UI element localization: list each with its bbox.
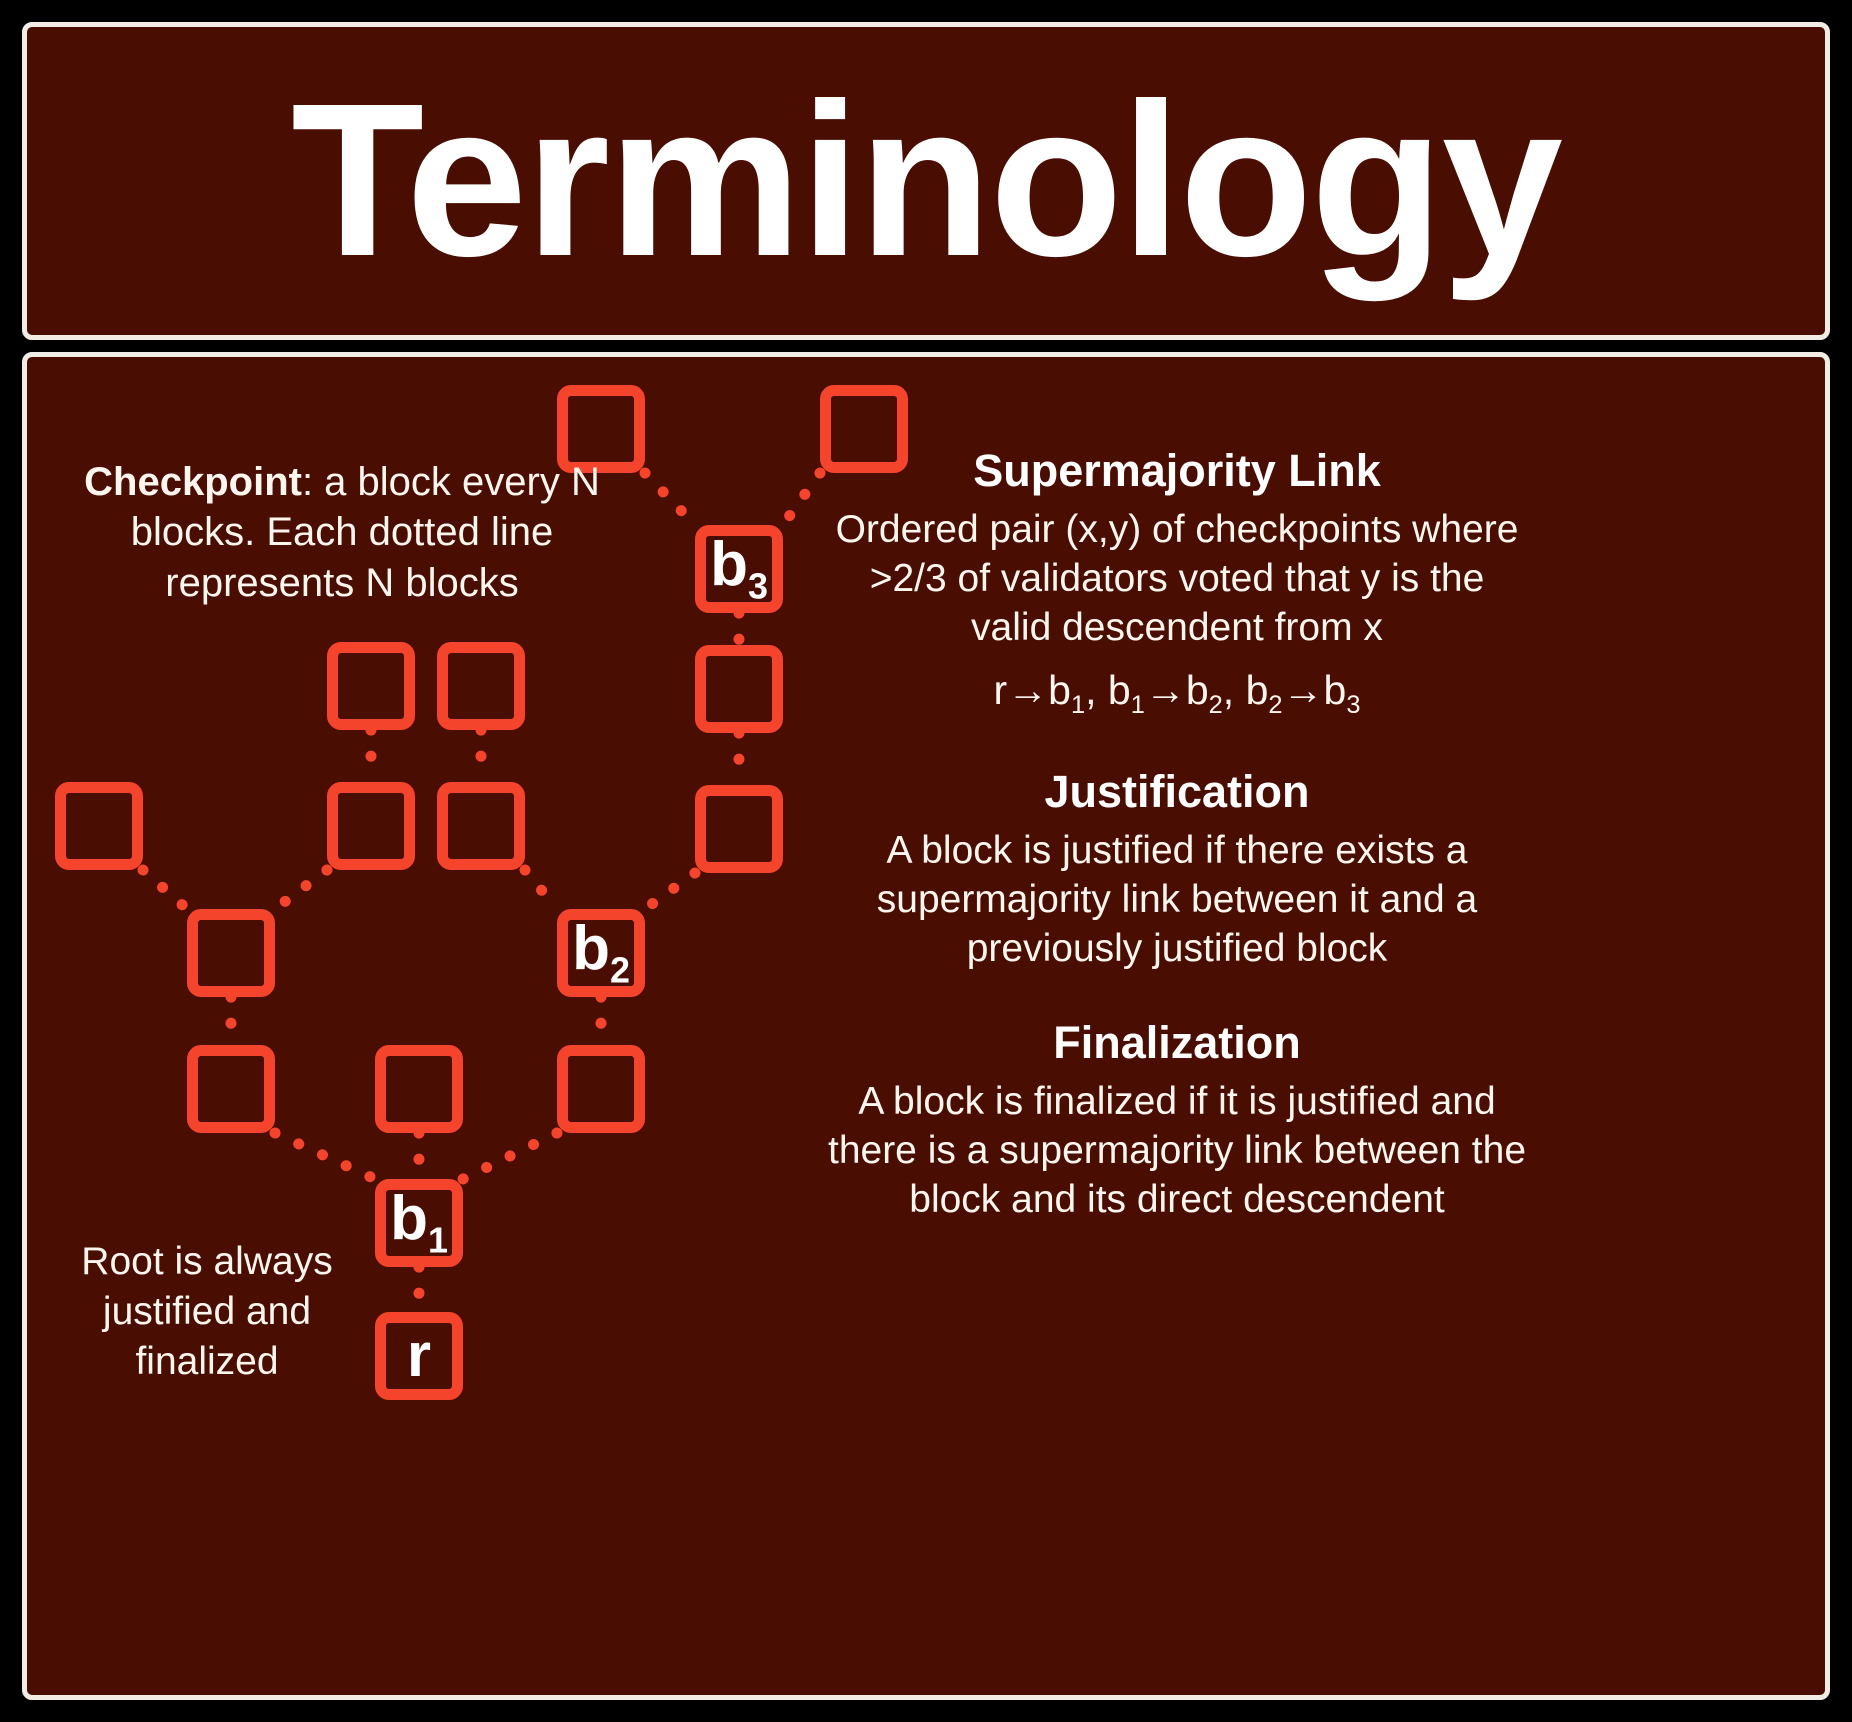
block-plain xyxy=(187,1045,275,1133)
dotted-link xyxy=(783,473,820,525)
root-note: Root is always justified and finalized xyxy=(57,1237,357,1387)
block-label: b2 xyxy=(572,918,630,988)
block-b3: b3 xyxy=(695,525,783,613)
block-label: b1 xyxy=(390,1188,448,1258)
dotted-link xyxy=(645,473,695,525)
definitions-column: Supermajority Link Ordered pair (x,y) of… xyxy=(827,445,1527,1269)
section-justification: Justification A block is justified if th… xyxy=(827,766,1527,973)
content-panel: b3b2b1r Checkpoint: a block every N bloc… xyxy=(22,352,1830,1700)
block-label: b3 xyxy=(710,534,768,604)
section-heading: Supermajority Link xyxy=(827,445,1527,497)
block-b1: b1 xyxy=(375,1179,463,1267)
block-plain xyxy=(437,642,525,730)
section-heading: Justification xyxy=(827,766,1527,818)
block-plain xyxy=(375,1045,463,1133)
supermajority-link-formula: r→b1, b1→b2, b2→b3 xyxy=(827,664,1527,722)
dotted-link xyxy=(525,870,557,909)
block-r: r xyxy=(375,1312,463,1400)
dotted-link xyxy=(275,870,327,909)
section-body: A block is finalized if it is justified … xyxy=(827,1077,1527,1224)
block-plain xyxy=(327,642,415,730)
title-panel: Terminology xyxy=(22,22,1830,340)
block-plain xyxy=(327,782,415,870)
section-body: Ordered pair (x,y) of checkpoints where … xyxy=(827,505,1527,652)
section-supermajority-link: Supermajority Link Ordered pair (x,y) of… xyxy=(827,445,1527,722)
section-body: A block is justified if there exists a s… xyxy=(827,826,1527,973)
block-label: r xyxy=(407,1325,431,1387)
dotted-link xyxy=(143,870,187,909)
dotted-link xyxy=(645,873,695,909)
block-plain xyxy=(187,909,275,997)
block-plain xyxy=(557,1045,645,1133)
block-b2: b2 xyxy=(557,909,645,997)
block-plain xyxy=(55,782,143,870)
block-plain xyxy=(695,785,783,873)
checkpoint-term: Checkpoint xyxy=(84,460,302,504)
dotted-link xyxy=(463,1133,557,1179)
section-heading: Finalization xyxy=(827,1017,1527,1069)
checkpoint-definition: Checkpoint: a block every N blocks. Each… xyxy=(57,457,627,608)
block-plain xyxy=(437,782,525,870)
slide-root: Terminology b3b2b1r Checkpoint: a block … xyxy=(0,0,1852,1722)
block-plain xyxy=(695,645,783,733)
dotted-link xyxy=(275,1133,375,1179)
page-title: Terminology xyxy=(27,72,1825,290)
section-finalization: Finalization A block is finalized if it … xyxy=(827,1017,1527,1224)
